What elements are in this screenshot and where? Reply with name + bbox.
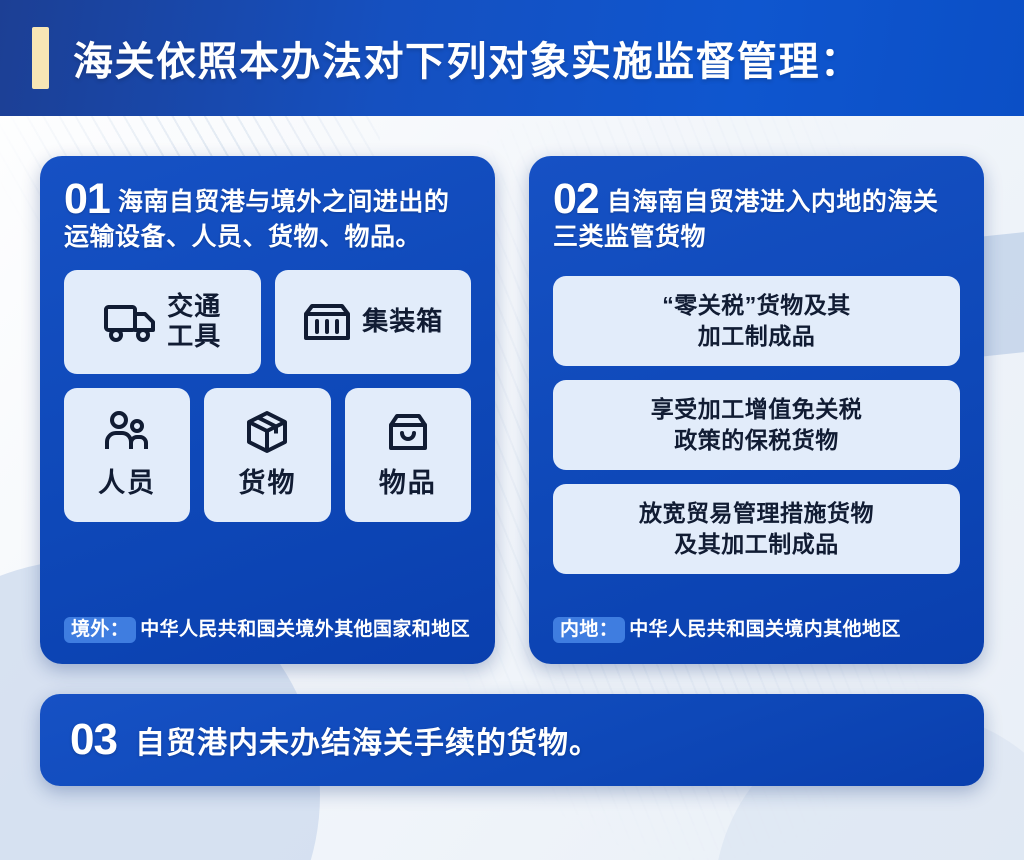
pill-value-added-exemption[interactable]: 享受加工增值免关税 政策的保税货物 [553,380,960,470]
card-03-text: 自贸港内未办结海关手续的货物。 [135,718,600,762]
tile-people-label: 人员 [98,461,156,500]
tile-articles-label: 物品 [379,461,437,500]
card-03: 03 自贸港内未办结海关手续的货物。 [40,694,984,786]
card-02-heading: 02自海南自贸港进入内地的海关三类监管货物 [553,178,960,254]
card-01: 01海南自贸港与境外之间进出的运输设备、人员、货物、物品。 [40,156,495,664]
tile-container-label: 集装箱 [362,307,443,336]
tile-row-1: 交通 工具 集装箱 [64,270,471,374]
card-02-footnote-text: 中华人民共和国关境内其他地区 [629,619,901,640]
page-title: 海关依照本办法对下列对象实施监督管理： [73,29,862,87]
tile-articles[interactable]: 物品 [345,388,471,522]
shipping-container-icon [302,300,352,344]
shopping-bag-icon [385,409,431,455]
people-icon [102,409,152,455]
card-02-footnote-tag: 内地： [553,617,625,643]
pill-relaxed-trade-measures[interactable]: 放宽贸易管理措施货物 及其加工制成品 [553,484,960,574]
header-accent-bar [32,27,49,89]
card-01-tiles: 交通 工具 集装箱 [64,270,471,522]
poster-root: 海关依照本办法对下列对象实施监督管理： 01海南自贸港与境外之间进出的运输设备、… [0,0,1024,860]
tile-goods[interactable]: 货物 [204,388,330,522]
card-02-number: 02 [553,175,599,223]
card-01-footnote-tag: 境外： [64,617,136,643]
cards-row: 01海南自贸港与境外之间进出的运输设备、人员、货物、物品。 [40,156,984,664]
card-01-number: 01 [64,175,110,223]
card-01-heading: 01海南自贸港与境外之间进出的运输设备、人员、货物、物品。 [64,178,471,254]
card-02-description: 自海南自贸港进入内地的海关三类监管货物 [553,188,938,251]
card-02-pills: “零关税”货物及其 加工制成品 享受加工增值免关税 政策的保税货物 放宽贸易管理… [553,276,960,574]
tile-row-2: 人员 货物 [64,388,471,522]
tile-goods-label: 货物 [238,461,296,500]
tile-transport[interactable]: 交通 工具 [64,270,261,374]
tile-transport-label: 交通 工具 [167,292,221,350]
card-01-footnote: 境外：中华人民共和国关境外其他国家和地区 [64,598,471,644]
pill-zero-tariff[interactable]: “零关税”货物及其 加工制成品 [553,276,960,366]
tile-container[interactable]: 集装箱 [275,270,472,374]
main-content: 01海南自贸港与境外之间进出的运输设备、人员、货物、物品。 [0,116,1024,664]
truck-icon [103,300,157,344]
tile-people[interactable]: 人员 [64,388,190,522]
card-01-footnote-text: 中华人民共和国关境外其他国家和地区 [140,619,470,640]
card-02-footnote: 内地：中华人民共和国关境内其他地区 [553,598,960,644]
card-01-description: 海南自贸港与境外之间进出的运输设备、人员、货物、物品。 [64,188,449,251]
card-02: 02自海南自贸港进入内地的海关三类监管货物 “零关税”货物及其 加工制成品 享受… [529,156,984,664]
page-header: 海关依照本办法对下列对象实施监督管理： [0,0,1024,116]
card-03-number: 03 [70,715,117,765]
package-box-icon [243,409,291,455]
